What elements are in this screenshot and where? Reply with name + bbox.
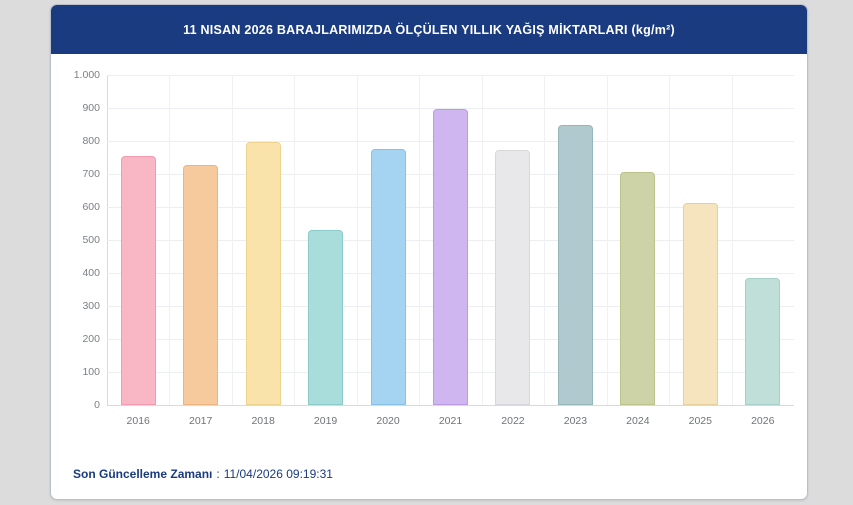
x-axis-tick-label: 2022: [501, 415, 524, 427]
bar-2024[interactable]: [620, 172, 655, 405]
x-axis-tick-label: 2018: [251, 415, 274, 427]
chart-canvas: 01002003004005006007008009001.000 201620…: [51, 54, 807, 450]
panel-footer: Son Güncelleme Zamanı : 11/04/2026 09:19…: [51, 448, 807, 499]
vertical-gridline: [169, 75, 170, 405]
bar-2021[interactable]: [433, 109, 468, 405]
vertical-gridline: [669, 75, 670, 405]
vertical-gridline: [732, 75, 733, 405]
bar-2023[interactable]: [558, 125, 593, 406]
y-axis-tick-label: 200: [82, 333, 100, 345]
gridline: [107, 75, 794, 76]
x-axis-tick-label: 2016: [127, 415, 150, 427]
vertical-gridline: [357, 75, 358, 405]
y-axis-tick-label: 600: [82, 201, 100, 213]
last-update-label: Son Güncelleme Zamanı: [73, 467, 212, 481]
bar-2025[interactable]: [683, 203, 718, 405]
bar-2026[interactable]: [745, 278, 780, 405]
last-update-separator: :: [216, 467, 219, 481]
y-axis-tick-label: 100: [82, 366, 100, 378]
vertical-gridline: [419, 75, 420, 405]
vertical-gridline: [294, 75, 295, 405]
x-axis-tick-label: 2026: [751, 415, 774, 427]
y-axis-tick-label: 300: [82, 300, 100, 312]
y-axis-tick-label: 800: [82, 135, 100, 147]
chart-panel: 11 NISAN 2026 BARAJLARIMIZDA ÖLÇÜLEN YIL…: [50, 4, 808, 500]
x-axis-tick-label: 2024: [626, 415, 649, 427]
y-axis-tick-label: 0: [94, 399, 100, 411]
bar-2019[interactable]: [308, 230, 343, 405]
panel-header: 11 NISAN 2026 BARAJLARIMIZDA ÖLÇÜLEN YIL…: [51, 5, 807, 54]
vertical-gridline: [482, 75, 483, 405]
vertical-gridline: [544, 75, 545, 405]
y-axis-tick-label: 400: [82, 267, 100, 279]
y-axis-tick-label: 900: [82, 102, 100, 114]
bar-2022[interactable]: [495, 150, 530, 405]
gridline: [107, 405, 794, 406]
x-axis-tick-label: 2021: [439, 415, 462, 427]
bar-2020[interactable]: [371, 149, 406, 405]
y-axis-tick-label: 1.000: [74, 69, 100, 81]
bar-2017[interactable]: [183, 165, 218, 405]
x-axis-tick-label: 2023: [564, 415, 587, 427]
x-axis-tick-label: 2020: [376, 415, 399, 427]
x-axis-tick-label: 2017: [189, 415, 212, 427]
last-update-value: 11/04/2026 09:19:31: [224, 467, 333, 481]
x-axis-tick-label: 2025: [689, 415, 712, 427]
bar-2016[interactable]: [121, 156, 156, 405]
vertical-gridline: [232, 75, 233, 405]
page-title: 11 NISAN 2026 BARAJLARIMIZDA ÖLÇÜLEN YIL…: [183, 23, 675, 37]
y-axis-tick-label: 500: [82, 234, 100, 246]
plot-area: 01002003004005006007008009001.000 201620…: [107, 75, 794, 405]
y-axis-tick-label: 700: [82, 168, 100, 180]
x-axis-tick-label: 2019: [314, 415, 337, 427]
vertical-gridline: [607, 75, 608, 405]
bar-2018[interactable]: [246, 142, 281, 405]
